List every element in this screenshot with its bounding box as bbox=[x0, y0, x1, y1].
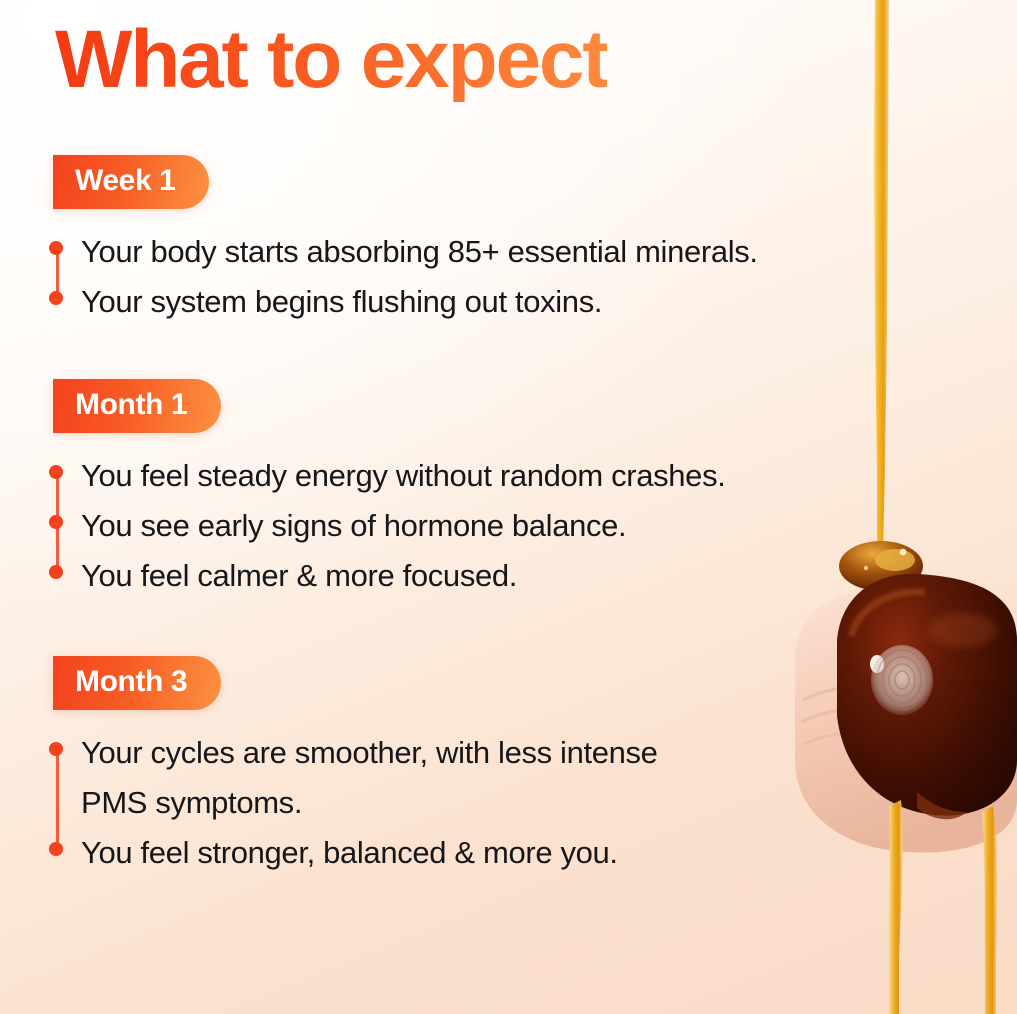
page-title: What to expect bbox=[55, 17, 607, 102]
poster-canvas: What to expect Week 1 Your body starts a… bbox=[0, 0, 1017, 1014]
bullet-text: Your system begins flushing out toxins. bbox=[81, 277, 602, 327]
list-item: Your body starts absorbing 85+ essential… bbox=[45, 227, 1017, 277]
bullet-text: You feel stronger, balanced & more you. bbox=[81, 828, 618, 878]
list-item: You feel stronger, balanced & more you. bbox=[45, 828, 1017, 878]
bullet-dot-icon bbox=[49, 515, 63, 529]
bullet-text: Your cycles are smoother, with less inte… bbox=[81, 728, 658, 828]
bullet-list-week-1: Your body starts absorbing 85+ essential… bbox=[0, 227, 1017, 327]
list-item: You see early signs of hormone balance. bbox=[45, 501, 1017, 551]
bullet-list-month-3: Your cycles are smoother, with less inte… bbox=[0, 728, 1017, 879]
bullet-dot-icon bbox=[49, 742, 63, 756]
bullet-dot-icon bbox=[49, 291, 63, 305]
list-item: Your system begins flushing out toxins. bbox=[45, 277, 1017, 327]
bullet-list-month-1: You feel steady energy without random cr… bbox=[0, 451, 1017, 602]
bullet-dot-icon bbox=[49, 241, 63, 255]
section-badge-month-1: Month 1 bbox=[53, 379, 221, 433]
bullet-dot-icon bbox=[49, 842, 63, 856]
timeline-section-month-3: Month 3 Your cycles are smoother, with l… bbox=[0, 656, 1017, 878]
list-item: You feel steady energy without random cr… bbox=[45, 451, 1017, 501]
section-badge-month-3: Month 3 bbox=[53, 656, 221, 710]
bullet-text: You feel steady energy without random cr… bbox=[81, 451, 725, 501]
list-item: Your cycles are smoother, with less inte… bbox=[45, 728, 1017, 828]
timeline-section-week-1: Week 1 Your body starts absorbing 85+ es… bbox=[0, 155, 1017, 327]
timeline-section-month-1: Month 1 You feel steady energy without r… bbox=[0, 379, 1017, 601]
bullet-dot-icon bbox=[49, 565, 63, 579]
list-item: You feel calmer & more focused. bbox=[45, 551, 1017, 601]
bullet-dot-icon bbox=[49, 465, 63, 479]
section-badge-week-1: Week 1 bbox=[53, 155, 209, 209]
bullet-text: Your body starts absorbing 85+ essential… bbox=[81, 227, 758, 277]
bullet-text: You feel calmer & more focused. bbox=[81, 551, 517, 601]
bullet-text: You see early signs of hormone balance. bbox=[81, 501, 626, 551]
